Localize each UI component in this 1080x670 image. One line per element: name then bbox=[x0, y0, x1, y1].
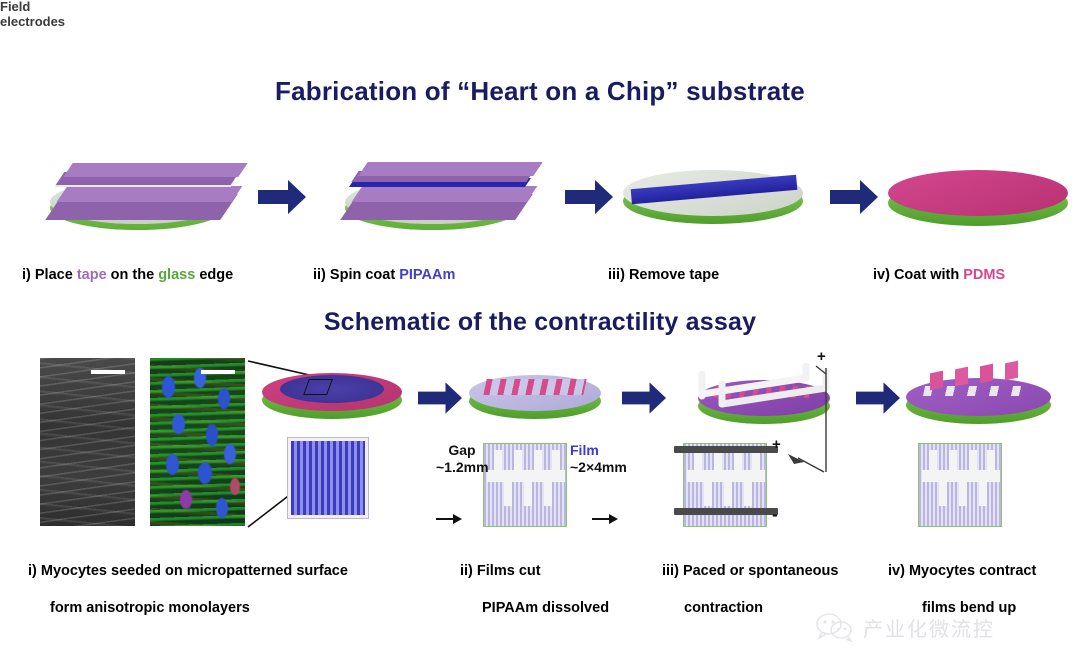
caption-assay-iv-line1: iv) Myocytes contract bbox=[888, 563, 1036, 579]
tape-slab-upper-top bbox=[63, 163, 247, 177]
diagram-step-ii-spin-coat-pipaam bbox=[325, 150, 540, 235]
assay-section-title: Schematic of the contractility assay bbox=[0, 308, 1080, 337]
film-electrode-panel bbox=[683, 443, 767, 527]
gap-value: ~1.2mm bbox=[436, 459, 488, 476]
caption-keyword-glass: glass bbox=[158, 267, 195, 283]
arrow-step-iii-to-iv bbox=[830, 180, 878, 214]
arrow-assay-i-to-ii bbox=[418, 382, 462, 414]
caption-assay-iii-line2: contraction bbox=[662, 599, 763, 618]
caption-step-i: i) Place tape on the glass edge bbox=[22, 247, 233, 284]
cut-slot bbox=[494, 450, 502, 476]
bent-film bbox=[955, 367, 968, 387]
watermark: 产业化微流控 bbox=[815, 612, 995, 642]
gap-annotation: Gap ~1.2mm bbox=[436, 442, 488, 476]
diagram-assay-i-seeded-dish bbox=[258, 365, 408, 425]
micropattern-zoom-panel bbox=[288, 438, 368, 518]
cut-slot bbox=[544, 480, 552, 506]
scale-bar bbox=[91, 370, 125, 374]
caption-assay-iii: iii) Paced or spontaneous contraction bbox=[662, 543, 838, 617]
watermark-text: 产业化微流控 bbox=[863, 613, 995, 642]
cut-film-teeth bbox=[483, 379, 586, 395]
diagram-step-i-tape-on-glass bbox=[30, 150, 245, 235]
figure-canvas: Fabrication of “Heart on a Chip” substra… bbox=[0, 0, 1080, 670]
electrode-bar-bottom bbox=[674, 508, 778, 515]
caption-keyword-pdms: PDMS bbox=[963, 267, 1005, 283]
film-value: ~2×4mm bbox=[570, 459, 640, 476]
bent-film bbox=[1005, 361, 1018, 381]
caption-step-i-suffix: edge bbox=[195, 267, 233, 283]
diagram-assay-ii-films-cut-dish bbox=[465, 365, 605, 425]
cut-slot bbox=[939, 480, 947, 506]
film-final-panel bbox=[918, 443, 1002, 527]
micrograph-phase-contrast bbox=[40, 358, 135, 526]
arrow-assay-iii-to-iv bbox=[856, 382, 900, 414]
cut-slot bbox=[734, 450, 742, 476]
pdms-coat-top bbox=[888, 170, 1068, 216]
bent-film bbox=[980, 364, 993, 384]
cut-slot bbox=[514, 450, 522, 476]
cut-slot bbox=[704, 480, 712, 506]
bent-film bbox=[930, 371, 943, 391]
arrow-step-i-to-ii bbox=[258, 180, 306, 214]
tape-slab-lower-top bbox=[352, 186, 538, 202]
caption-step-iii: iii) Remove tape bbox=[608, 247, 719, 284]
cut-slot bbox=[987, 450, 995, 476]
dish-top bbox=[906, 378, 1051, 416]
small-arrow-left bbox=[436, 512, 462, 531]
arrow-assay-ii-to-iii bbox=[622, 382, 666, 414]
small-arrow-right bbox=[592, 512, 618, 531]
caption-keyword-pipaam: PIPAAm bbox=[399, 267, 455, 283]
tape-slab-upper-top bbox=[358, 162, 542, 176]
polarity-plus-panel: + bbox=[772, 436, 781, 454]
fabrication-section-title: Fabrication of “Heart on a Chip” substra… bbox=[0, 76, 1080, 107]
caption-assay-ii-line1: ii) Films cut bbox=[460, 563, 541, 579]
field-electrodes-line2: electrodes bbox=[0, 15, 1080, 30]
cut-slot bbox=[969, 450, 977, 476]
caption-step-ii-prefix: ii) Spin coat bbox=[313, 267, 399, 283]
cut-slot bbox=[724, 480, 732, 506]
diagram-assay-iv-bent-films-dish bbox=[900, 362, 1060, 428]
cut-slot bbox=[959, 480, 967, 506]
cut-slot bbox=[714, 450, 722, 476]
caption-step-iv-prefix: iv) Coat with bbox=[873, 267, 963, 283]
gap-label: Gap bbox=[436, 442, 488, 459]
film-annotation: Film ~2×4mm bbox=[570, 442, 640, 476]
cut-slot bbox=[504, 480, 512, 506]
cut-slot bbox=[752, 450, 760, 476]
field-electrodes-label: Field electrodes bbox=[0, 0, 1080, 30]
electrode-bar-top bbox=[674, 446, 778, 453]
cut-slot bbox=[949, 450, 957, 476]
film-dimension-panel bbox=[483, 443, 567, 527]
cut-slot bbox=[979, 480, 987, 506]
wechat-icon bbox=[815, 612, 855, 642]
scale-bar bbox=[201, 370, 235, 374]
cut-slot bbox=[552, 450, 560, 476]
diagram-step-iii-remove-tape bbox=[615, 160, 815, 235]
cut-slot bbox=[534, 450, 542, 476]
caption-step-i-mid: on the bbox=[107, 267, 159, 283]
polarity-minus-panel: - bbox=[772, 505, 778, 525]
caption-assay-ii-line2: PIPAAm dissolved bbox=[460, 599, 609, 618]
caption-step-ii: ii) Spin coat PIPAAm bbox=[313, 247, 455, 284]
field-electrodes-line1: Field bbox=[0, 0, 1080, 15]
cut-slot bbox=[694, 450, 702, 476]
film-label: Film bbox=[570, 442, 640, 459]
caption-step-iv: iv) Coat with PDMS bbox=[873, 247, 1005, 284]
tape-slab-lower-top bbox=[57, 186, 243, 202]
cut-slot bbox=[744, 480, 752, 506]
caption-step-iii-text: iii) Remove tape bbox=[608, 267, 719, 283]
caption-keyword-tape: tape bbox=[77, 267, 107, 283]
cut-slot bbox=[524, 480, 532, 506]
caption-assay-i-line1: i) Myocytes seeded on micropatterned sur… bbox=[28, 563, 348, 579]
micrograph-fluorescence bbox=[150, 358, 245, 526]
caption-assay-iii-line1: iii) Paced or spontaneous bbox=[662, 563, 838, 579]
diagram-step-iv-coat-pdms bbox=[880, 160, 1080, 235]
caption-assay-ii: ii) Films cut PIPAAm dissolved bbox=[460, 543, 609, 617]
arrow-step-ii-to-iii bbox=[565, 180, 613, 214]
caption-step-i-prefix: i) Place bbox=[22, 267, 77, 283]
caption-assay-i: i) Myocytes seeded on micropatterned sur… bbox=[28, 543, 348, 617]
caption-assay-i-line2: form anisotropic monolayers bbox=[28, 599, 250, 618]
caption-assay-iv: iv) Myocytes contract films bend up bbox=[888, 543, 1036, 617]
cut-slot bbox=[929, 450, 937, 476]
